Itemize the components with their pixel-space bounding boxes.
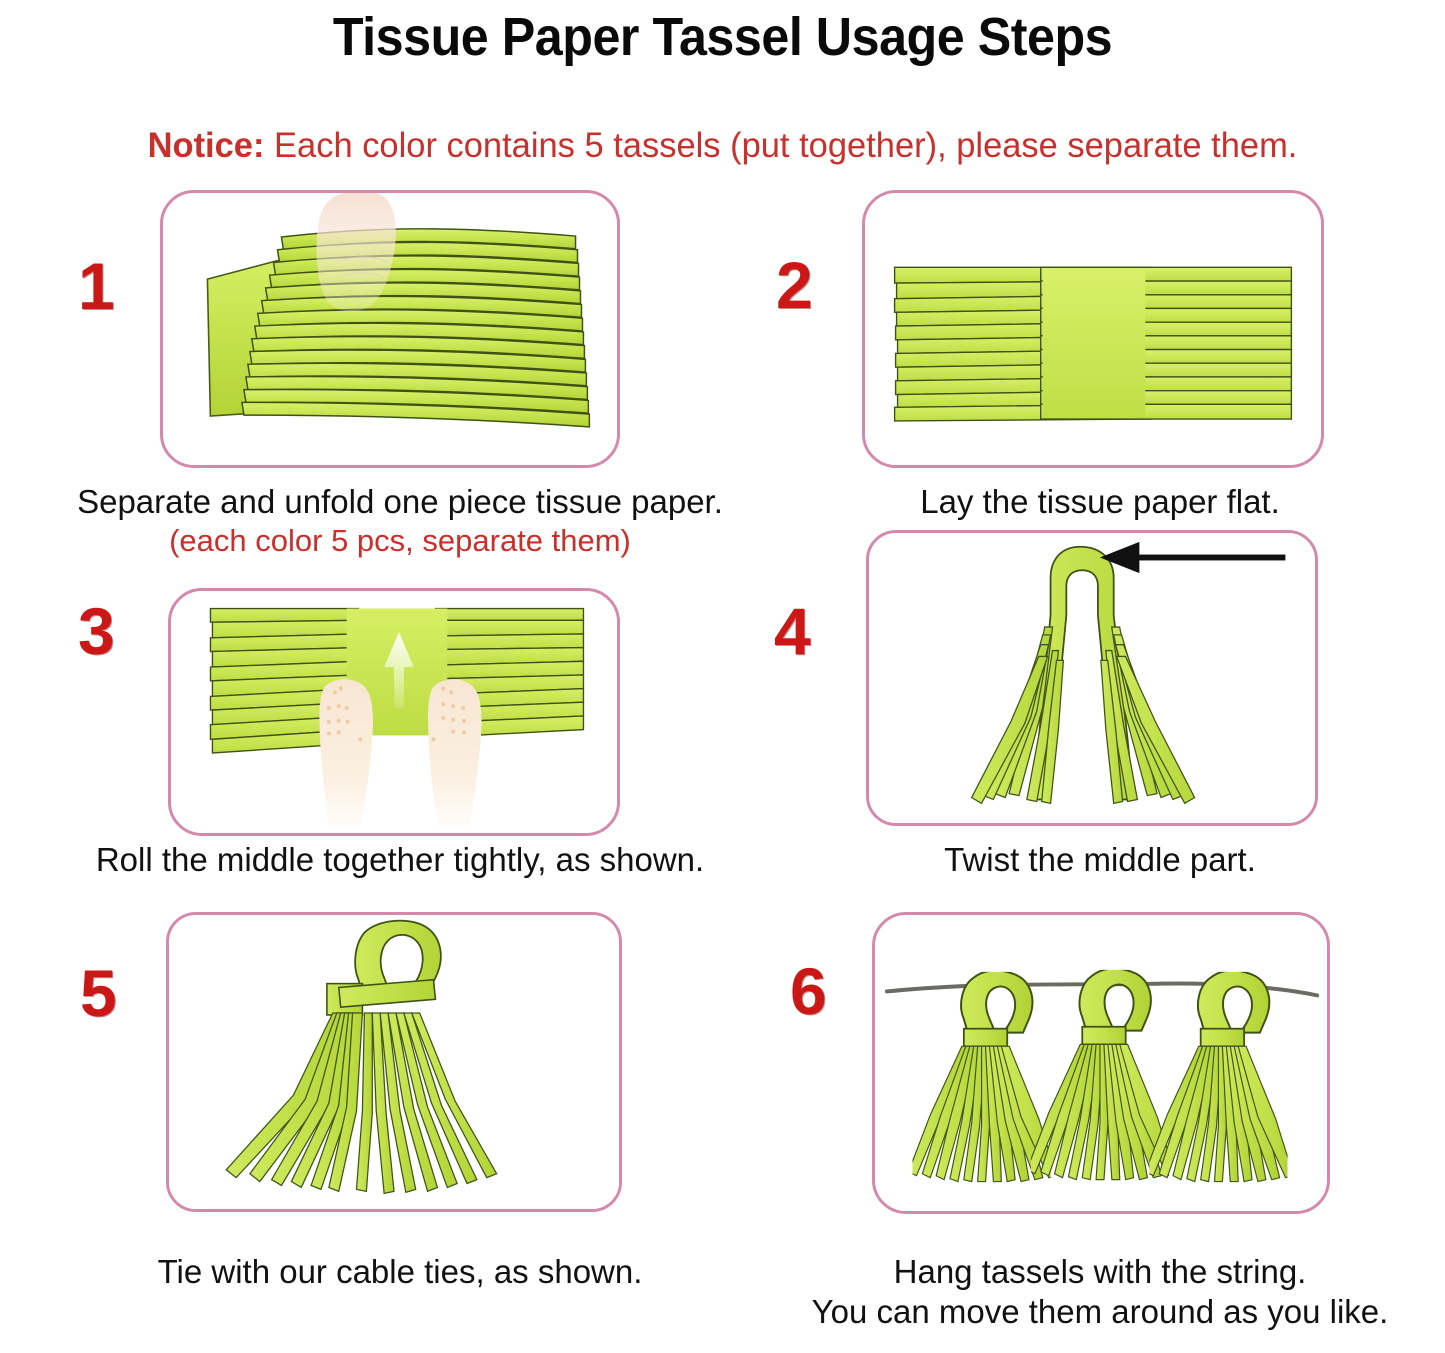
step-caption-3-main: Roll the middle together tightly, as sho…: [96, 841, 704, 878]
step-caption-2-main: Lay the tissue paper flat.: [920, 483, 1280, 520]
step-panel-2: [862, 190, 1324, 468]
step-panel-3: [168, 588, 620, 836]
two-hands-rolling-middle-illustration: [171, 591, 617, 833]
notice-label: Notice:: [148, 126, 265, 165]
flat-fringed-sheet-illustration: [865, 193, 1321, 465]
three-tassels-on-string-illustration: [875, 915, 1327, 1211]
step-panel-4: [866, 530, 1318, 826]
step-caption-5-main: Tie with our cable ties, as shown.: [158, 1253, 643, 1290]
step-caption-2: Lay the tissue paper flat.: [820, 482, 1380, 522]
step-caption-6-sub: You can move them around as you like.: [790, 1292, 1410, 1332]
folded-tassel-with-loop-illustration: [869, 533, 1315, 823]
step-number-5: 5: [80, 960, 117, 1026]
step-number-1: 1: [78, 253, 115, 319]
step-caption-1-main: Separate and unfold one piece tissue pap…: [77, 483, 723, 520]
step-caption-6-main: Hang tassels with the string.: [894, 1253, 1307, 1290]
fringed-sheet-lifted-by-hand-illustration: [163, 193, 617, 465]
step-panel-5: [166, 912, 622, 1212]
step-caption-6: Hang tassels with the string. You can mo…: [790, 1252, 1410, 1333]
notice-body: Each color contains 5 tassels (put toget…: [264, 126, 1297, 165]
step-panel-6: [872, 912, 1330, 1214]
step-number-3: 3: [78, 598, 115, 664]
step-caption-4-main: Twist the middle part.: [944, 841, 1256, 878]
step-number-4: 4: [774, 598, 811, 664]
step-panel-1: [160, 190, 620, 468]
step-caption-1-sub: (each color 5 pcs, separate them): [0, 522, 800, 560]
page-title: Tissue Paper Tassel Usage Steps: [51, 6, 1395, 68]
step-caption-1: Separate and unfold one piece tissue pap…: [0, 482, 800, 560]
step-number-2: 2: [776, 252, 813, 318]
step-caption-4: Twist the middle part.: [820, 840, 1380, 880]
tassel-tied-with-cable-tie-illustration: [169, 915, 619, 1209]
notice-text: Notice: Each color contains 5 tassels (p…: [11, 126, 1434, 166]
step-number-6: 6: [790, 958, 827, 1024]
step-caption-3: Roll the middle together tightly, as sho…: [0, 840, 800, 880]
step-caption-5: Tie with our cable ties, as shown.: [0, 1252, 800, 1292]
